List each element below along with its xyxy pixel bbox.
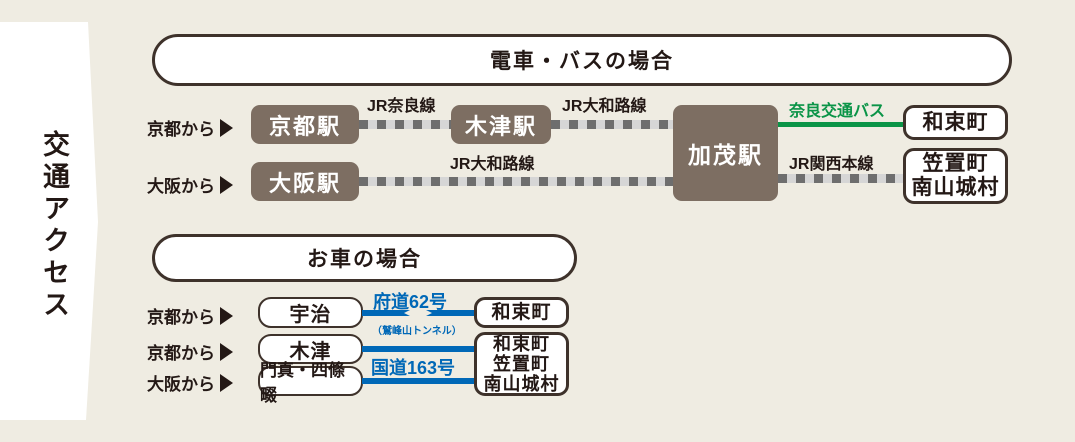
destination-line: 南山城村	[912, 176, 1000, 200]
destination-line: 南山城村	[484, 374, 560, 394]
station-box-kyoto: 京都駅	[251, 105, 359, 144]
route-label-jr-kansai-honsen: JR関西本線	[789, 150, 873, 174]
car-origin-box-uji: 宇治	[258, 297, 363, 328]
route-label-nara-kotsu-bus: 奈良交通バス	[789, 97, 885, 121]
car-origin-box-kadoma-shijonawate: 門真・四條畷	[258, 366, 363, 396]
from-label-text: 京都から	[147, 339, 215, 364]
arrow-triangle-icon	[220, 374, 233, 392]
destination-line: 和束町	[491, 302, 551, 323]
section-header-car: お車の場合	[152, 234, 577, 282]
from-label-text: 大阪から	[147, 172, 215, 197]
road-line-route-163-upper	[362, 346, 474, 352]
rail-line-jr-yamatoji-osaka	[359, 177, 673, 186]
from-label-osaka-train: 大阪から	[147, 172, 233, 197]
route-label-national-route-163: 国道163号	[371, 354, 455, 380]
from-label-text: 京都から	[147, 115, 215, 140]
from-label-kyoto-car-kizu: 京都から	[147, 339, 233, 364]
destination-line: 笠置町	[493, 354, 550, 374]
route-label-jr-yamatoji-osaka: JR大和路線	[450, 150, 534, 174]
destination-box-wazuka-car: 和束町	[474, 297, 569, 328]
destination-line: 笠置町	[923, 152, 989, 176]
route-label-pref-road-62: 府道62号	[373, 288, 447, 314]
station-box-kamo: 加茂駅	[673, 105, 778, 201]
arrow-triangle-icon	[220, 176, 233, 194]
destination-box-kasagi-minamiyamashiro-train: 笠置町 南山城村	[903, 148, 1008, 204]
from-label-text: 京都から	[147, 303, 215, 328]
station-box-osaka: 大阪駅	[251, 162, 359, 201]
rail-line-jr-yamatoji-kyoto	[551, 120, 673, 129]
station-box-kizu: 木津駅	[451, 105, 551, 144]
route-note-washumi-tunnel: （鷲峰山トンネル）	[372, 322, 462, 337]
destination-box-three-towns-car: 和束町 笠置町 南山城村	[474, 332, 569, 396]
bus-line-nara-kotsu	[778, 122, 903, 127]
destination-line: 和束町	[493, 334, 550, 354]
destination-box-wazuka-train: 和束町	[903, 105, 1008, 140]
from-label-kyoto-train: 京都から	[147, 115, 233, 140]
rail-line-jr-nara	[359, 120, 451, 129]
destination-line: 和束町	[923, 111, 989, 135]
route-label-jr-nara: JR奈良線	[367, 92, 435, 116]
rail-line-jr-kansai-honsen	[778, 174, 903, 183]
arrow-triangle-icon	[220, 307, 233, 325]
from-label-osaka-car: 大阪から	[147, 370, 233, 395]
route-label-jr-yamatoji-kyoto: JR大和路線	[562, 92, 646, 116]
from-label-kyoto-car-uji: 京都から	[147, 303, 233, 328]
from-label-text: 大阪から	[147, 370, 215, 395]
section-header-train-bus: 電車・バスの場合	[152, 34, 1012, 86]
arrow-triangle-icon	[220, 119, 233, 137]
arrow-triangle-icon	[220, 343, 233, 361]
page-title: 交通アクセス	[22, 130, 68, 322]
